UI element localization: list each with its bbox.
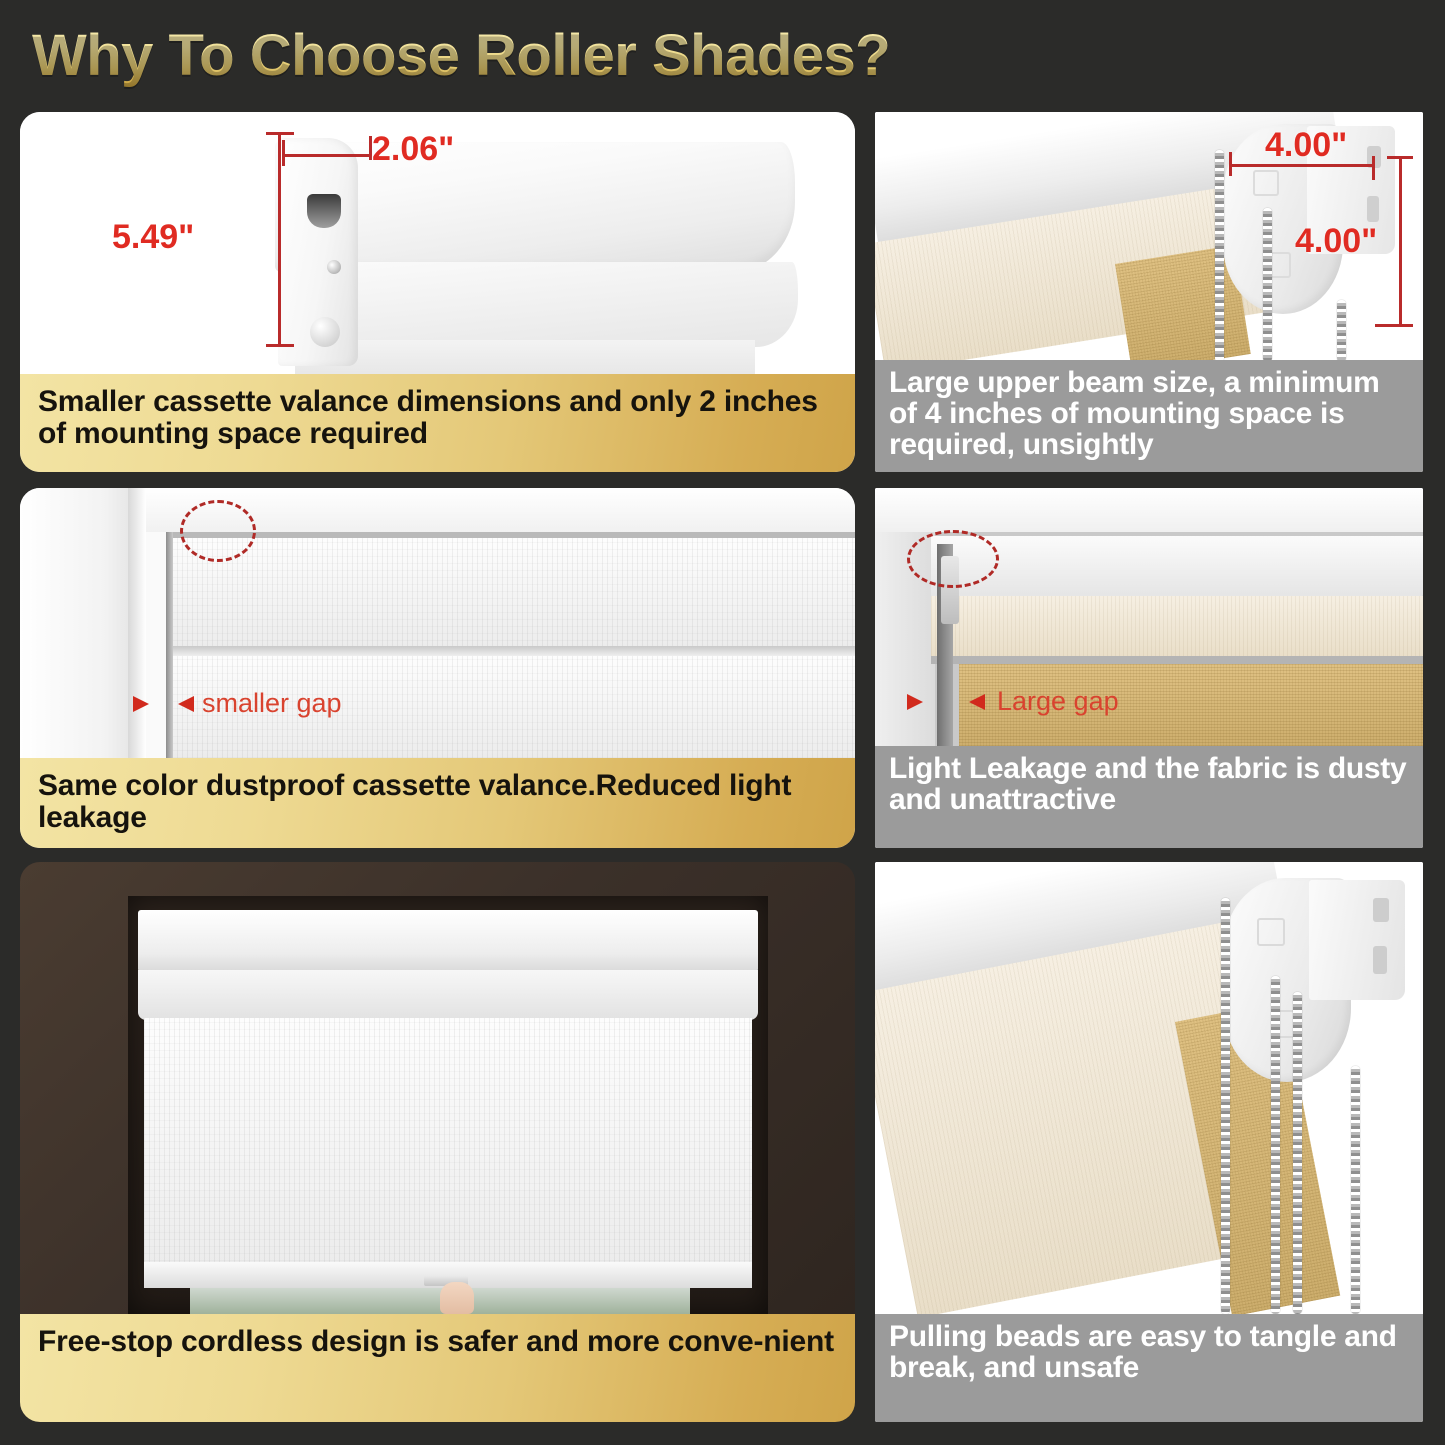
bead-chain-2 [1271, 976, 1280, 1314]
side-gap-strip [166, 532, 173, 758]
beam-height-dim-line [1399, 156, 1402, 326]
beam-width-cap-left [1229, 152, 1232, 176]
height-dim-cap-top [266, 132, 294, 135]
panel-4-caption-bar: Light Leakage and the fabric is dusty an… [875, 746, 1423, 848]
shade-fabric [144, 1018, 752, 1268]
window-frame-left [20, 488, 140, 758]
valance-cream-band [931, 596, 1423, 658]
bracket-slot-lower [1367, 196, 1379, 222]
gap-arrow-left [133, 696, 149, 712]
panel-6-caption-text: Pulling beads are easy to tangle and bre… [889, 1322, 1411, 1384]
bracket-slot-lower-2 [1373, 946, 1387, 974]
gap-arrow-right [178, 696, 194, 712]
panel-2-photo: 4.00" 4.00" [875, 112, 1423, 360]
panel-3-photo: smaller gap [20, 488, 855, 758]
bead-chain-3 [1293, 992, 1302, 1314]
shade-valance-roll [138, 970, 758, 1020]
width-dim-cap-left [282, 140, 285, 166]
page-title: Why To Choose Roller Shades? [32, 22, 890, 89]
panel-6-caption-bar: Pulling beads are easy to tangle and bre… [875, 1314, 1423, 1422]
end-cap-screw-upper [327, 260, 341, 274]
gap-highlight-circle [180, 500, 256, 562]
large-gap-arrow-right [969, 694, 985, 710]
bracket-mount-plate-2 [1309, 880, 1405, 1000]
ceiling-band [875, 488, 1423, 532]
bead-chain-left [1215, 150, 1224, 360]
panel-3-caption-bar: Same color dustproof cassette valance.Re… [20, 758, 855, 848]
panel-3-caption-text: Same color dustproof cassette valance.Re… [38, 770, 839, 834]
panel-1-caption-bar: Smaller cassette valance dimensions and … [20, 374, 855, 472]
roller-tube [931, 536, 1423, 600]
shade-headrail [138, 910, 758, 972]
panel-light-leakage: Large gap Light Leakage and the fabric i… [875, 488, 1423, 848]
beam-width-label: 4.00" [1265, 126, 1347, 165]
bracket-slot-upper-2 [1373, 898, 1389, 922]
infographic-root: Why To Choose Roller Shades? 2.06" 5.49" [0, 0, 1445, 1445]
panel-4-photo: Large gap [875, 488, 1423, 746]
valance-lower-roll [288, 262, 798, 347]
valance-shadow-line [172, 646, 855, 656]
beam-width-cap-right [1372, 156, 1375, 180]
panel-large-upper-beam: 4.00" 4.00" Large upper beam size, a min… [875, 112, 1423, 472]
end-cap-slot [307, 194, 341, 228]
beam-height-label: 4.00" [1295, 222, 1377, 261]
panel-5-caption-text: Free-stop cordless design is safer and m… [38, 1326, 834, 1358]
leak-highlight-circle [907, 530, 999, 588]
hand [440, 1282, 474, 1314]
valance-bottom-edge [931, 656, 1423, 664]
height-dim-line [278, 132, 281, 347]
valance-fabric [295, 340, 755, 374]
panel-6-photo [875, 862, 1423, 1314]
beam-height-cap-bottom [1375, 324, 1413, 327]
panel-cordless-design: Free-stop cordless design is safer and m… [20, 862, 855, 1422]
panel-cassette-dimensions: 2.06" 5.49" Smaller cassette valance dim… [20, 112, 855, 472]
smaller-gap-label: smaller gap [202, 688, 342, 719]
bead-chain-right [1337, 300, 1346, 360]
panel-2-caption-text: Large upper beam size, a minimum of 4 in… [889, 368, 1411, 461]
end-cap-screw-lower [310, 317, 340, 347]
bead-chain-1 [1221, 898, 1230, 1314]
width-dimension-label: 2.06" [372, 130, 454, 169]
height-dimension-label: 5.49" [112, 218, 194, 257]
panel-1-photo: 2.06" 5.49" [20, 112, 855, 374]
panel-dustproof-cassette: smaller gap Same color dustproof cassett… [20, 488, 855, 848]
panel-5-photo [20, 862, 855, 1314]
height-dim-cap-bottom [266, 344, 294, 347]
panel-1-caption-text: Smaller cassette valance dimensions and … [38, 386, 839, 450]
panel-5-caption-bar: Free-stop cordless design is safer and m… [20, 1314, 855, 1422]
bracket-emboss-upper-2 [1257, 918, 1285, 946]
cassette-valance-face [172, 538, 855, 648]
window-frame-edge [128, 488, 146, 758]
large-gap-arrow-left [907, 694, 923, 710]
bead-chain-4 [1351, 1066, 1360, 1314]
panel-pulling-beads: Pulling beads are easy to tangle and bre… [875, 862, 1423, 1422]
bead-chain-mid [1263, 208, 1272, 360]
beam-height-cap-top [1387, 156, 1413, 159]
panel-4-caption-text: Light Leakage and the fabric is dusty an… [889, 754, 1411, 816]
large-gap-label: Large gap [997, 686, 1119, 717]
width-dim-line [282, 154, 372, 157]
bracket-emboss-upper [1253, 170, 1279, 196]
panel-2-caption-bar: Large upper beam size, a minimum of 4 in… [875, 360, 1423, 472]
